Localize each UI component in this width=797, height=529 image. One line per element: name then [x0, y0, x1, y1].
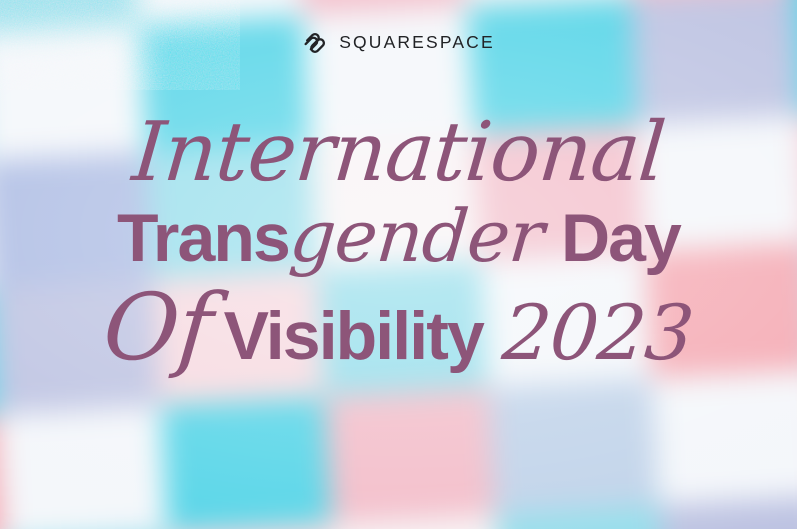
- poster-headline: International Trans gender Day Of Visibi…: [0, 112, 797, 374]
- headline-word-of: Of: [100, 282, 215, 374]
- headline-word-day: Day: [561, 204, 680, 272]
- headline-word-year: 2023: [500, 295, 696, 371]
- poster-canvas: SQUARESPACE International Trans gender D…: [0, 0, 797, 529]
- headline-line-2: Trans gender Day: [0, 200, 797, 272]
- squarespace-logo-icon: [302, 30, 328, 56]
- squarespace-logo-lockup: SQUARESPACE: [0, 30, 797, 56]
- headline-word-visibility: Visibility: [224, 302, 483, 370]
- headline-word-gender: gender: [287, 200, 546, 272]
- poster-content: SQUARESPACE International Trans gender D…: [0, 0, 797, 529]
- squarespace-wordmark: SQUARESPACE: [339, 34, 495, 52]
- headline-line-1: International: [0, 112, 797, 194]
- headline-word-trans: Trans: [117, 204, 289, 272]
- headline-line-3: Of Visibility 2023: [0, 282, 797, 374]
- headline-word-international: International: [129, 112, 667, 194]
